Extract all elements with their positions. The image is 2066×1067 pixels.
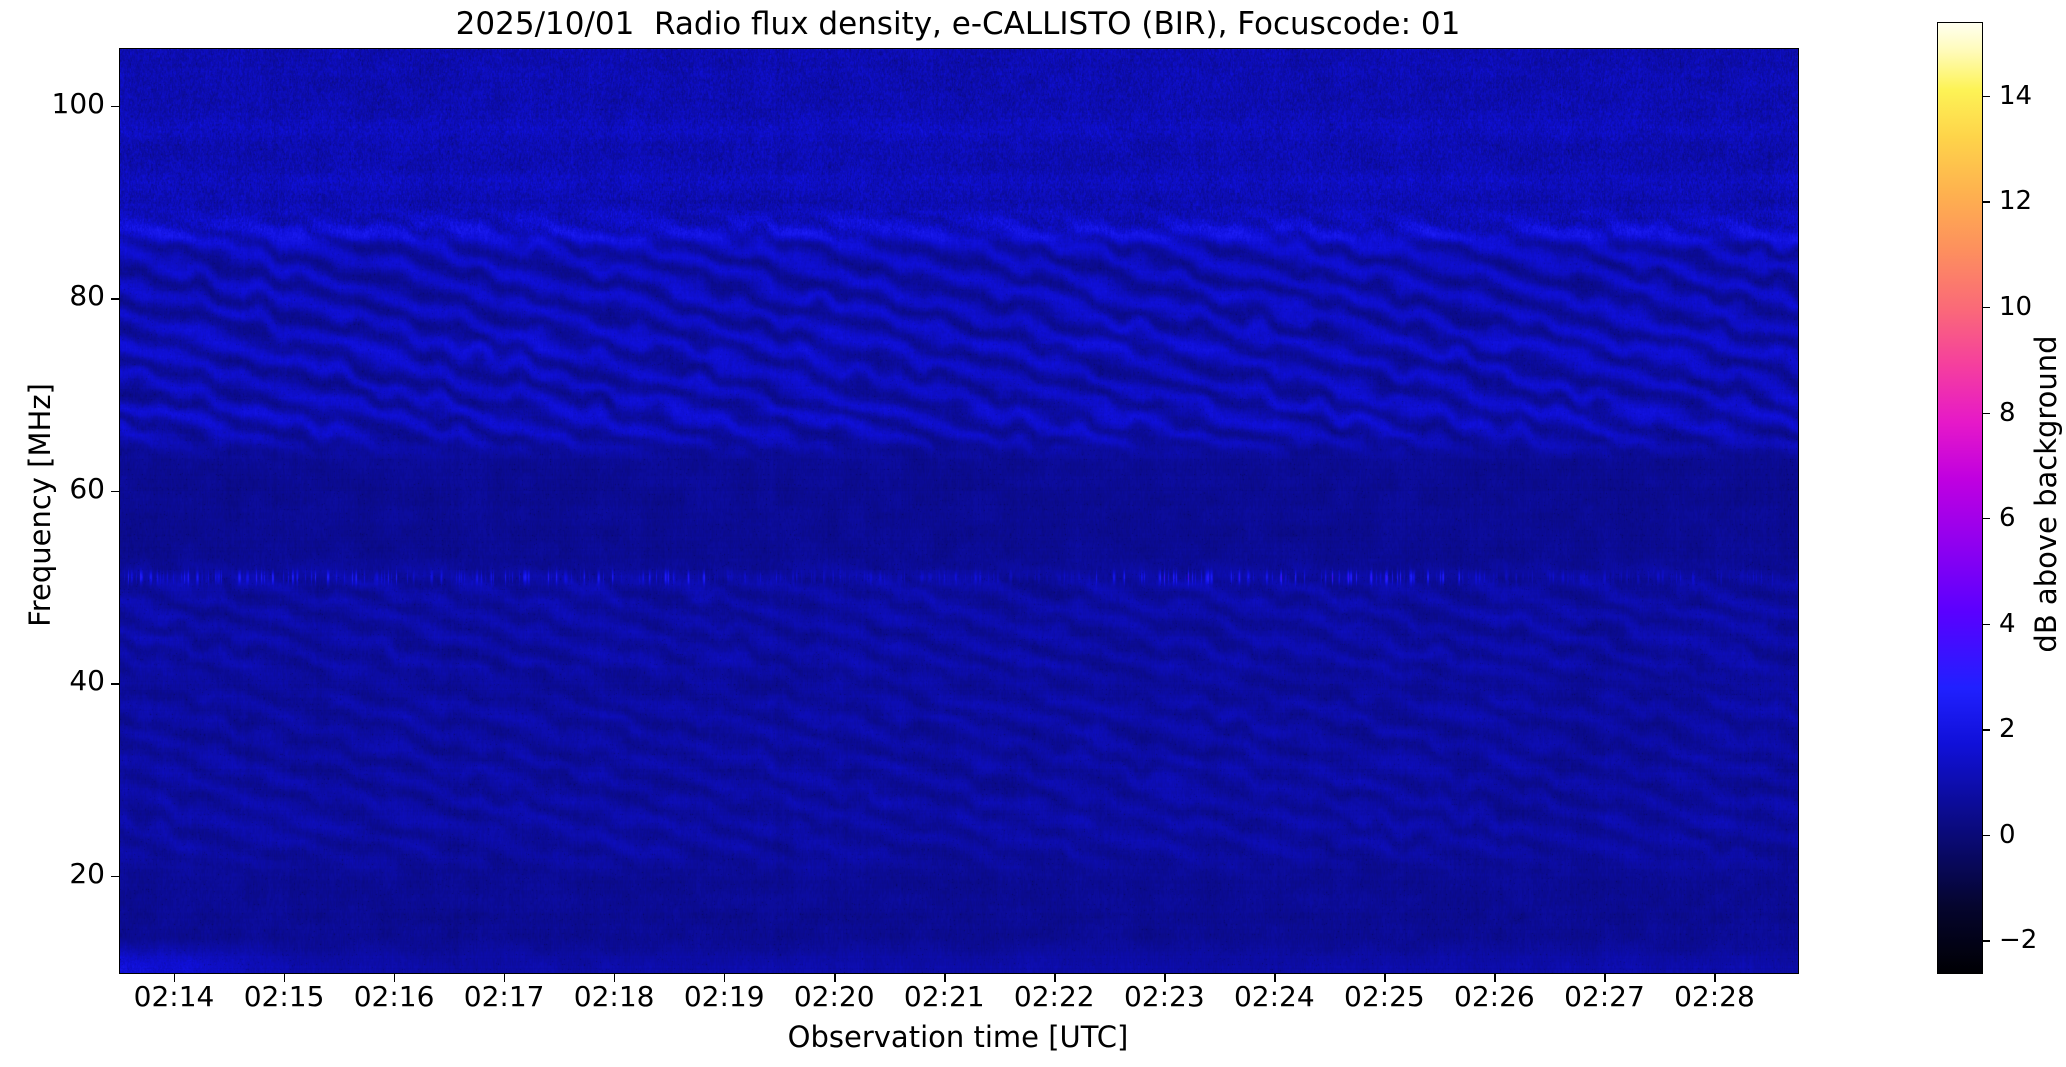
- x-tick-label: 02:16: [354, 980, 435, 1013]
- spectrogram-image: [120, 49, 1798, 973]
- y-tick-mark: [111, 683, 119, 684]
- page-title: 2025/10/01 Radio flux density, e-CALLIST…: [119, 4, 1797, 44]
- y-tick-mark: [111, 298, 119, 299]
- y-tick-label: 100: [52, 87, 105, 120]
- x-tick-label: 02:19: [684, 980, 765, 1013]
- x-tick-label: 02:28: [1674, 980, 1755, 1013]
- x-tick-label: 02:21: [904, 980, 985, 1013]
- colorbar-tick-mark: [1982, 940, 1990, 941]
- x-tick-label: 02:18: [574, 980, 655, 1013]
- colorbar-tick-label: 2: [1999, 714, 2016, 744]
- y-tick-mark: [111, 491, 119, 492]
- colorbar-label: dB above background: [2029, 254, 2063, 734]
- y-tick-label: 40: [69, 664, 105, 697]
- y-tick-label: 20: [69, 857, 105, 890]
- x-tick-label: 02:14: [134, 980, 215, 1013]
- colorbar-tick-mark: [1982, 96, 1990, 97]
- x-tick-label: 02:27: [1564, 980, 1645, 1013]
- colorbar-gradient: [1938, 23, 1982, 973]
- colorbar-tick-mark: [1982, 201, 1990, 202]
- x-tick-label: 02:24: [1234, 980, 1315, 1013]
- colorbar-tick-mark: [1982, 729, 1990, 730]
- x-tick-label: 02:20: [794, 980, 875, 1013]
- figure-canvas: 2025/10/01 Radio flux density, e-CALLIST…: [0, 0, 2066, 1067]
- colorbar-tick-label: 6: [1999, 503, 2016, 533]
- spectrogram-axes: [119, 48, 1799, 974]
- y-axis-label-container: Frequency [MHz]: [0, 48, 40, 972]
- colorbar-tick-label: 0: [1999, 820, 2016, 850]
- x-tick-label: 02:26: [1454, 980, 1535, 1013]
- x-axis-label: Observation time [UTC]: [119, 1020, 1797, 1054]
- colorbar-tick-label: 4: [1999, 609, 2016, 639]
- colorbar-tick-mark: [1982, 518, 1990, 519]
- y-axis-label: Frequency [MHz]: [23, 305, 57, 705]
- colorbar: [1937, 22, 1983, 974]
- y-tick-mark: [111, 106, 119, 107]
- x-tick-label: 02:25: [1344, 980, 1425, 1013]
- y-tick-label: 80: [69, 279, 105, 312]
- x-tick-label: 02:15: [244, 980, 325, 1013]
- colorbar-tick-label: 8: [1999, 398, 2016, 428]
- x-tick-label: 02:23: [1124, 980, 1205, 1013]
- colorbar-tick-mark: [1982, 624, 1990, 625]
- colorbar-label-container: dB above background: [2026, 22, 2066, 972]
- y-tick-mark: [111, 876, 119, 877]
- colorbar-tick-mark: [1982, 835, 1990, 836]
- y-tick-label: 60: [69, 472, 105, 505]
- colorbar-tick-mark: [1982, 413, 1990, 414]
- colorbar-tick-mark: [1982, 307, 1990, 308]
- x-tick-label: 02:22: [1014, 980, 1095, 1013]
- x-tick-label: 02:17: [464, 980, 545, 1013]
